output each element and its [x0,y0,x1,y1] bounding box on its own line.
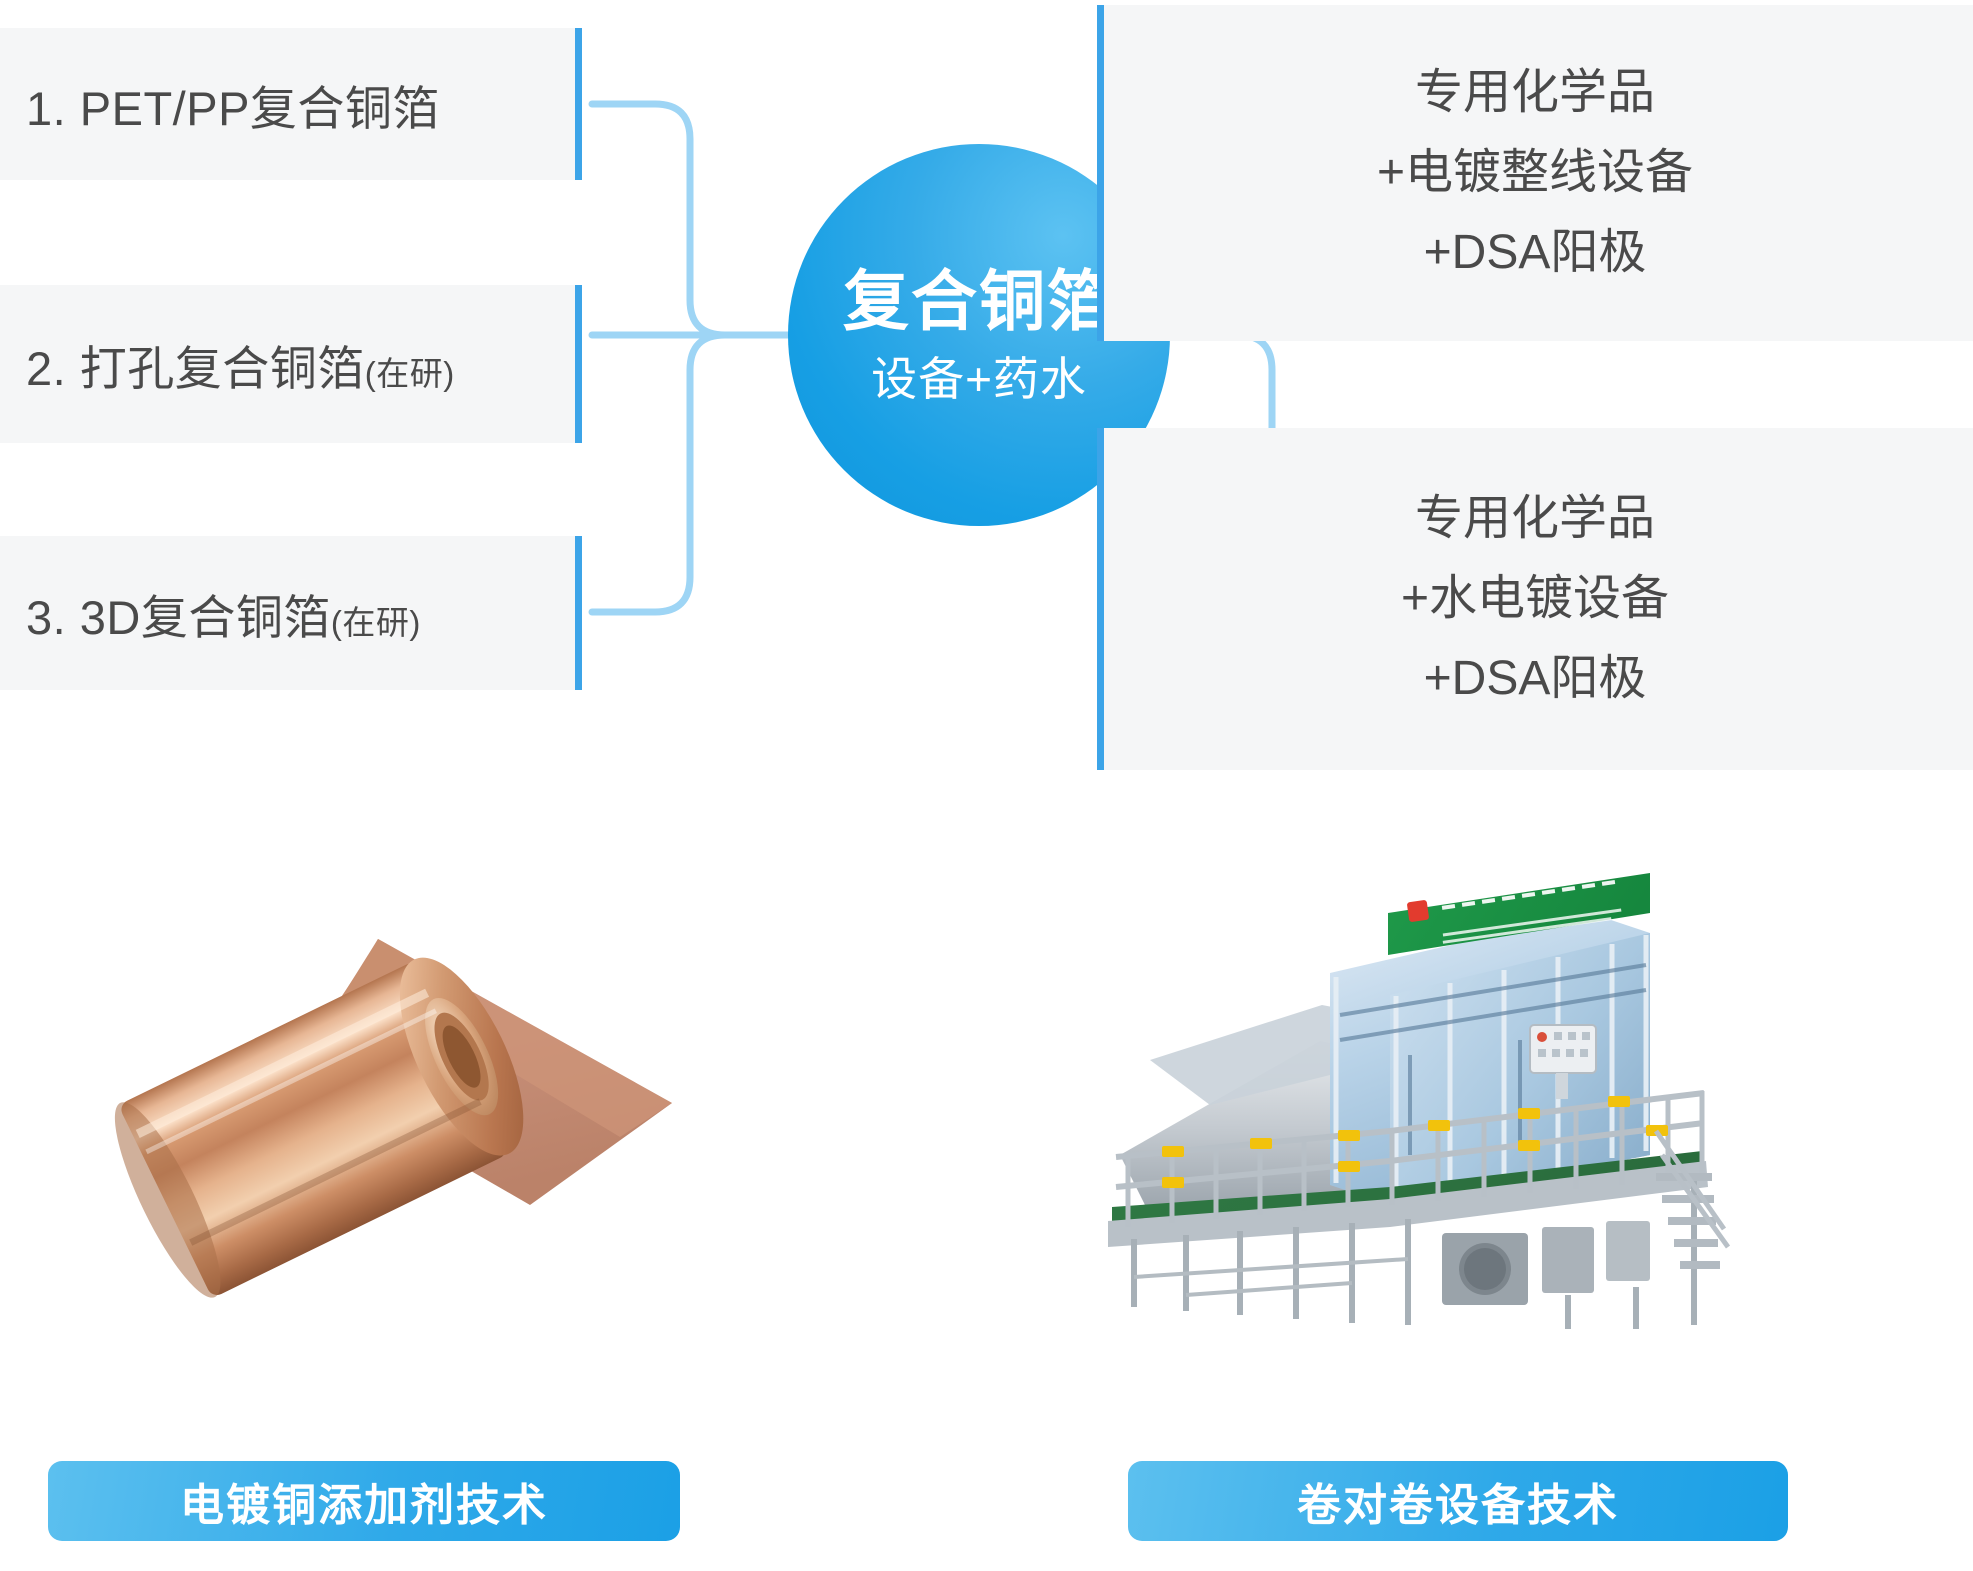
left-item-2-label: 打孔复合铜箔 [80,342,365,395]
left-item-3-accent-bar [575,536,582,690]
left-item-2-index: 2. [26,342,66,395]
right-item-1-line-2: +电镀整线设备 [1377,149,1693,197]
diagram-canvas: 1. PET/PP复合铜箔 2. 打孔复合铜箔(在研) 3. 3D复合铜箔(在研… [0,0,1973,1571]
left-item-2[interactable]: 2. 打孔复合铜箔(在研) [0,285,582,443]
left-item-3[interactable]: 3. 3D复合铜箔(在研) [0,536,582,690]
left-item-3-note: (在研) [331,604,421,641]
right-item-2-accent-bar [1097,428,1104,770]
plating-line-machine-image [1090,855,1730,1355]
left-item-3-label: 3D复合铜箔 [80,591,331,644]
right-item-1[interactable]: 专用化学品 +电镀整线设备 +DSA阳极 [1097,5,1973,341]
right-item-1-accent-bar [1097,5,1104,341]
left-item-2-accent-bar [575,285,582,443]
left-item-1-index: 1. [26,82,66,135]
right-item-1-line-3: +DSA阳极 [1424,229,1647,277]
left-item-1-label: PET/PP复合铜箔 [80,82,440,135]
right-item-2-line-1: 专用化学品 [1415,495,1655,543]
caption-left-label: 电镀铜添加剂技术 [180,1469,548,1533]
caption-right-label: 卷对卷设备技术 [1297,1469,1619,1533]
copper-foil-roll-image [60,725,720,1365]
right-item-1-line-1: 专用化学品 [1415,69,1655,117]
right-item-2-line-2: +水电镀设备 [1401,575,1669,623]
left-item-1-accent-bar [575,28,582,180]
left-item-1-text: 1. PET/PP复合铜箔 [26,70,440,139]
caption-left[interactable]: 电镀铜添加剂技术 [48,1461,680,1541]
center-node-subtitle: 设备+药水 [871,356,1087,402]
left-item-2-text: 2. 打孔复合铜箔(在研) [26,330,455,399]
center-node-title: 复合铜箔 [843,268,1115,334]
left-item-3-index: 3. [26,591,66,644]
left-item-3-text: 3. 3D复合铜箔(在研) [26,579,421,648]
right-item-2[interactable]: 专用化学品 +水电镀设备 +DSA阳极 [1097,428,1973,770]
left-item-1[interactable]: 1. PET/PP复合铜箔 [0,28,582,180]
right-item-2-line-3: +DSA阳极 [1424,655,1647,703]
left-item-2-note: (在研) [365,355,455,392]
caption-right[interactable]: 卷对卷设备技术 [1128,1461,1788,1541]
